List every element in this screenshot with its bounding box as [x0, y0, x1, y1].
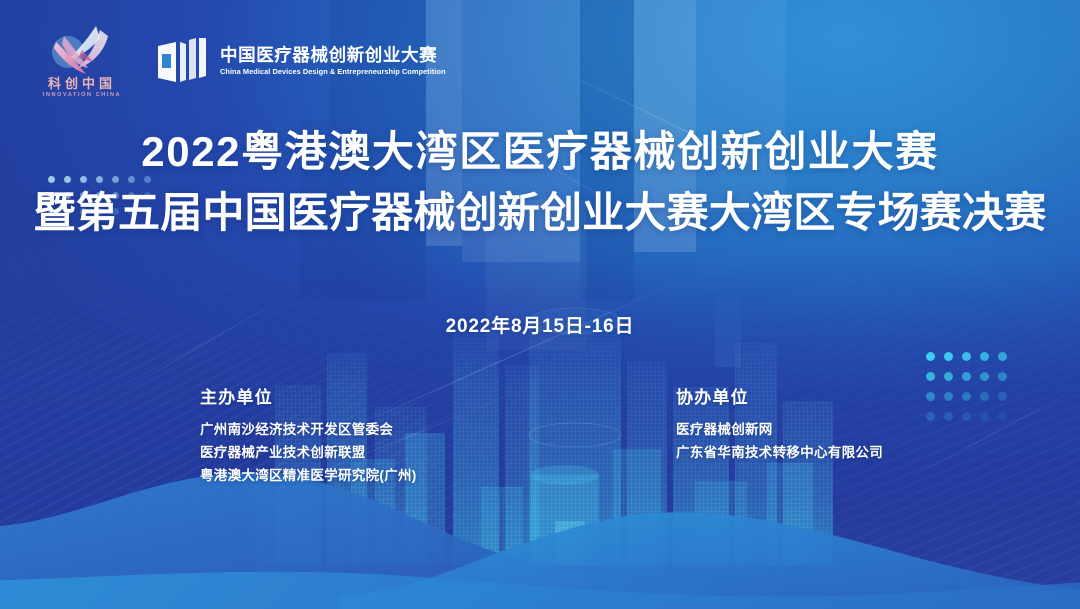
- competition-logo-en: China Medical Devices Design & Entrepren…: [220, 68, 446, 76]
- dot-grid-right: [926, 352, 1016, 432]
- coorganizer-heading: 协办单位: [676, 389, 883, 406]
- kechuang-logo-cn: 科创中国: [34, 77, 130, 90]
- host-organizer-list: 广州南沙经济技术开发区管委会 医疗器械产业技术创新联盟 粤港澳大湾区精准医学研究…: [200, 418, 417, 488]
- host-organizer-heading: 主办单位: [200, 389, 417, 406]
- list-item: 医疗器械创新网: [676, 418, 883, 441]
- conference-banner: 科创中国 INNOVATION CHINA 中国医疗器械创新创业大赛 China…: [0, 0, 1080, 609]
- coorganizer-block: 协办单位 医疗器械创新网 广东省华南技术转移中心有限公司: [676, 389, 883, 464]
- list-item: 医疗器械产业技术创新联盟: [200, 441, 417, 464]
- kechuang-china-logo: 科创中国 INNOVATION CHINA: [34, 24, 130, 98]
- header-logos: 科创中国 INNOVATION CHINA 中国医疗器械创新创业大赛 China…: [34, 24, 446, 98]
- competition-logo-cn: 中国医疗器械创新创业大赛: [220, 46, 446, 65]
- main-title-block: 2022粤港澳大湾区医疗器械创新创业大赛 暨第五届中国医疗器械创新创业大赛大湾区…: [0, 128, 1080, 236]
- event-date: 2022年8月15日-16日: [0, 311, 1080, 338]
- list-item: 广东省华南技术转移中心有限公司: [676, 441, 883, 464]
- list-item: 广州南沙经济技术开发区管委会: [200, 418, 417, 441]
- host-organizer-block: 主办单位 广州南沙经济技术开发区管委会 医疗器械产业技术创新联盟 粤港澳大湾区精…: [200, 389, 417, 488]
- kechuang-logo-en: INNOVATION CHINA: [34, 93, 130, 99]
- list-item: 粤港澳大湾区精准医学研究院(广州): [200, 464, 417, 487]
- title-line-2: 暨第五届中国医疗器械创新创业大赛大湾区专场赛决赛: [0, 189, 1080, 236]
- kechuang-bird-icon: [38, 24, 124, 78]
- coorganizer-list: 医疗器械创新网 广东省华南技术转移中心有限公司: [676, 418, 883, 464]
- wave-shapes: [0, 409, 1080, 609]
- open-book-door-icon: [156, 38, 208, 84]
- title-line-1: 2022粤港澳大湾区医疗器械创新创业大赛: [0, 128, 1080, 175]
- competition-logo: 中国医疗器械创新创业大赛 China Medical Devices Desig…: [156, 38, 446, 84]
